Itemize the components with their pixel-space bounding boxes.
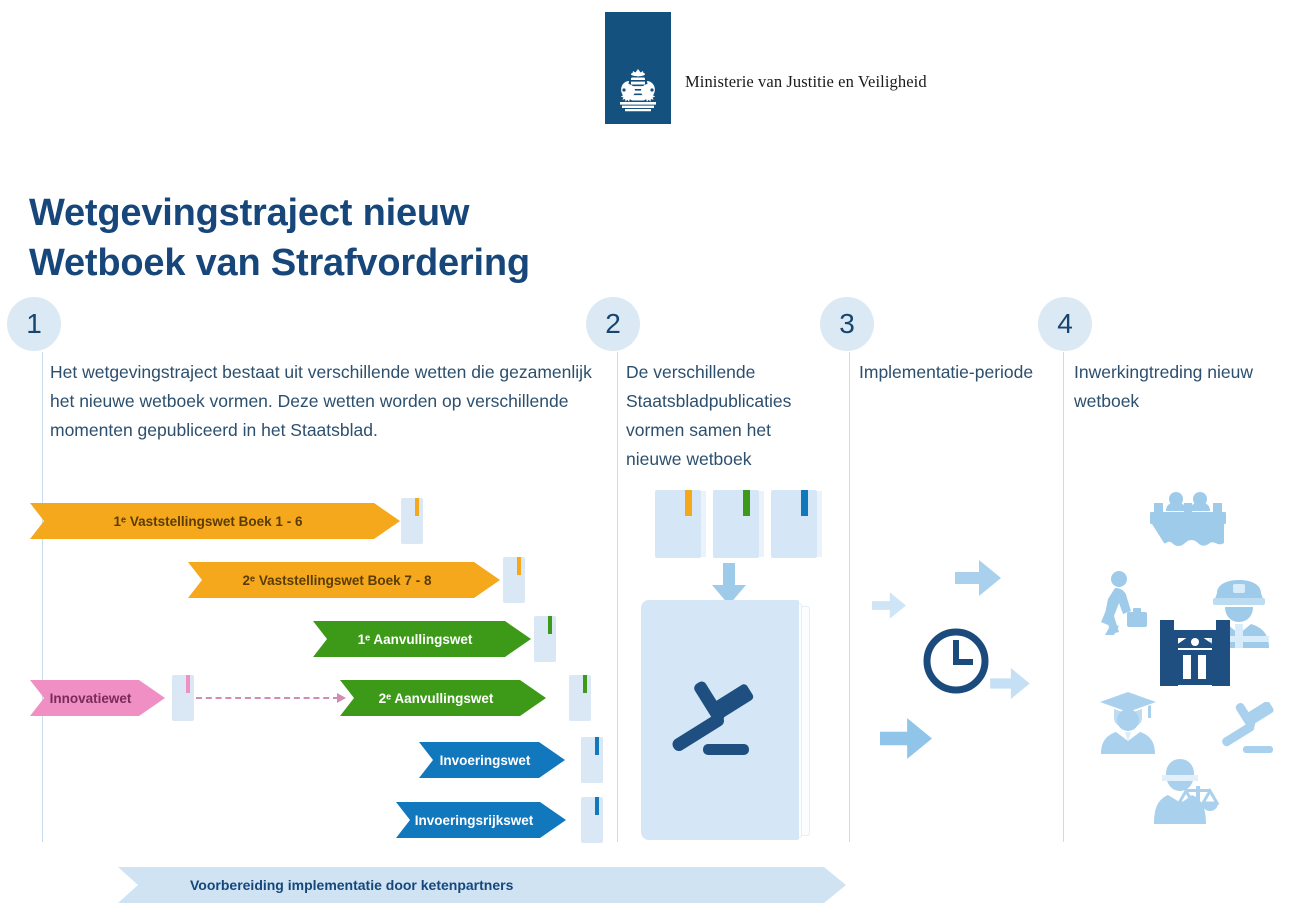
innovatiewet-connector-line [196, 697, 339, 699]
arrow-right-icon-left [872, 592, 906, 619]
netherlands-coat-of-arms-icon [613, 68, 663, 116]
publication-marker-6 [581, 797, 603, 843]
law-bar-6[interactable]: Invoeringsrijkswet [396, 802, 566, 838]
law-bar-1[interactable]: 1ᵉ Vaststellingswet Boek 1 - 6 [30, 503, 400, 539]
page-title: Wetgevingstraject nieuw Wetboek van Stra… [29, 188, 749, 288]
panel-of-judges-icon [1148, 489, 1228, 547]
law-bar-2[interactable]: 2ᵉ Vaststellingswet Boek 7 - 8 [188, 562, 500, 598]
gavel-glyph [667, 678, 775, 766]
step-number-2: 2 [586, 297, 640, 351]
step-number-3: 3 [820, 297, 874, 351]
step-text-4: Inwerkingtreding nieuw wetboek [1074, 358, 1274, 416]
gavel-icon [1219, 702, 1279, 758]
staatsblad-book-blue-icon [771, 490, 817, 558]
ministry-logo: Ministerie van Justitie en Veiligheid [605, 12, 1025, 124]
law-bar-innovatiewet[interactable]: Innovatiewet [30, 680, 165, 716]
law-bar-3[interactable]: 1ᵉ Aanvullingswet [313, 621, 531, 657]
publication-marker-3 [534, 616, 556, 662]
law-bar-5[interactable]: Invoeringswet [419, 742, 565, 778]
law-book-gavel-icon [641, 600, 799, 840]
divider-col1 [42, 352, 43, 842]
law-bar-4[interactable]: 2ᵉ Aanvullingswet [340, 680, 546, 716]
publication-marker-1 [401, 498, 423, 544]
step-text-3: Implementatie-periode [859, 358, 1049, 387]
lady-justice-icon [1152, 758, 1232, 824]
preparation-bar[interactable]: Voorbereiding implementatie door ketenpa… [118, 867, 846, 903]
innovatiewet-connector-arrow [337, 693, 346, 703]
preparation-bar-label: Voorbereiding implementatie door ketenpa… [190, 877, 513, 893]
step-number-1: 1 [7, 297, 61, 351]
clock-icon [920, 625, 992, 697]
courthouse-icon [1152, 618, 1238, 688]
publication-marker-2 [503, 557, 525, 603]
publication-marker-4 [569, 675, 591, 721]
publication-marker-5 [581, 737, 603, 783]
divider-col3 [849, 352, 850, 842]
staatsblad-book-green-icon [713, 490, 759, 558]
staatsblad-book-orange-icon [655, 490, 701, 558]
page-title-line2: Wetboek van Strafvordering [29, 238, 749, 288]
arrow-right-icon-right [990, 668, 1030, 699]
publication-marker-innovatiewet [172, 675, 194, 721]
divider-col4 [1063, 352, 1064, 842]
ministry-name: Ministerie van Justitie en Veiligheid [685, 72, 927, 92]
arrow-right-icon-bottom [880, 718, 932, 759]
arrow-down-icon [705, 563, 753, 605]
page-title-line1: Wetgevingstraject nieuw [29, 192, 469, 234]
graduate-icon [1098, 692, 1158, 754]
walking-person-briefcase-icon [1097, 570, 1149, 638]
step-text-1: Het wetgevingstraject bestaat uit versch… [50, 358, 595, 445]
arrow-right-icon-top [955, 560, 1001, 596]
divider-col2 [617, 352, 618, 842]
step-number-4: 4 [1038, 297, 1092, 351]
step-text-2: De verschillende Staatsbladpublicaties v… [626, 358, 831, 474]
